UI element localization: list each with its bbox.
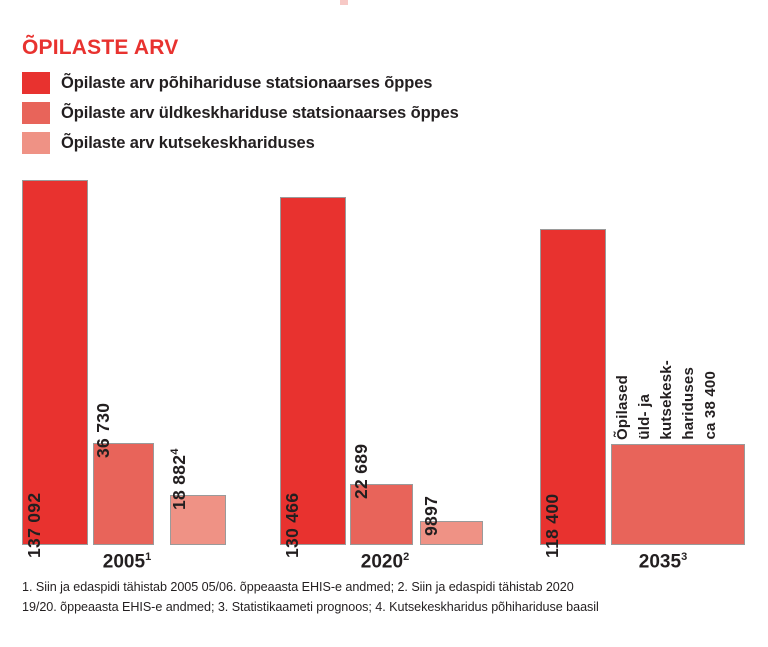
x-axis-label-text: 2035 xyxy=(639,551,681,572)
plot-area: 137 092 36 730 18 8824 20051 130 466 22 … xyxy=(0,0,768,647)
x-axis-label-2020: 20202 xyxy=(330,551,440,573)
bar-value-2005-uldkeskharidus: 36 730 xyxy=(93,403,114,458)
bar-value-2020-uldkeskharidus: 22 689 xyxy=(351,444,372,499)
x-axis-label-2005: 20051 xyxy=(72,551,182,573)
annotation-line-1: Õpilased xyxy=(614,375,631,440)
bar-value-2005-pohiharidus: 137 092 xyxy=(24,493,45,558)
x-axis-label-text: 2020 xyxy=(361,551,403,572)
x-axis-label-text: 2005 xyxy=(103,551,145,572)
bar-value-2035-pohiharidus: 118 400 xyxy=(542,494,563,558)
annotation-line-3: kutsekesk- xyxy=(658,360,675,440)
footnote: 1. Siin ja edaspidi tähistab 2005 05/06.… xyxy=(22,578,748,617)
annotation-line-2: üld- ja xyxy=(636,394,653,440)
footnote-mark-1: 1 xyxy=(145,551,151,563)
footnote-mark-4: 4 xyxy=(169,448,181,454)
chart-canvas: ÕPILASTE ARV Õpilaste arv põhihariduse s… xyxy=(0,0,768,647)
bar-value-2020-kutsekeskharidus: 9897 xyxy=(421,496,442,536)
footnote-line-2: 19/20. õppeaasta EHIS-e andmed; 3. Stati… xyxy=(22,598,748,618)
footnote-line-1: 1. Siin ja edaspidi tähistab 2005 05/06.… xyxy=(22,578,748,598)
annotation-line-5: ca 38 400 xyxy=(702,371,719,440)
bar-2035-uld-ja-kutsekeskharidus xyxy=(611,444,745,545)
annotation-2035: Õpilased üld- ja kutsekesk- hariduses ca… xyxy=(614,316,724,440)
bar-value-2020-pohiharidus: 130 466 xyxy=(282,493,303,558)
annotation-line-4: hariduses xyxy=(680,367,697,440)
x-axis-label-2035: 20353 xyxy=(608,551,718,573)
bar-value-2005-kutsekeskharidus: 18 8824 xyxy=(169,448,190,510)
bar-2005-uldkeskharidus xyxy=(93,443,154,545)
footnote-mark-3: 3 xyxy=(681,551,687,563)
bar-2005-pohiharidus xyxy=(22,180,88,545)
footnote-mark-2: 2 xyxy=(403,551,409,563)
bar-value-text: 18 882 xyxy=(169,455,189,510)
